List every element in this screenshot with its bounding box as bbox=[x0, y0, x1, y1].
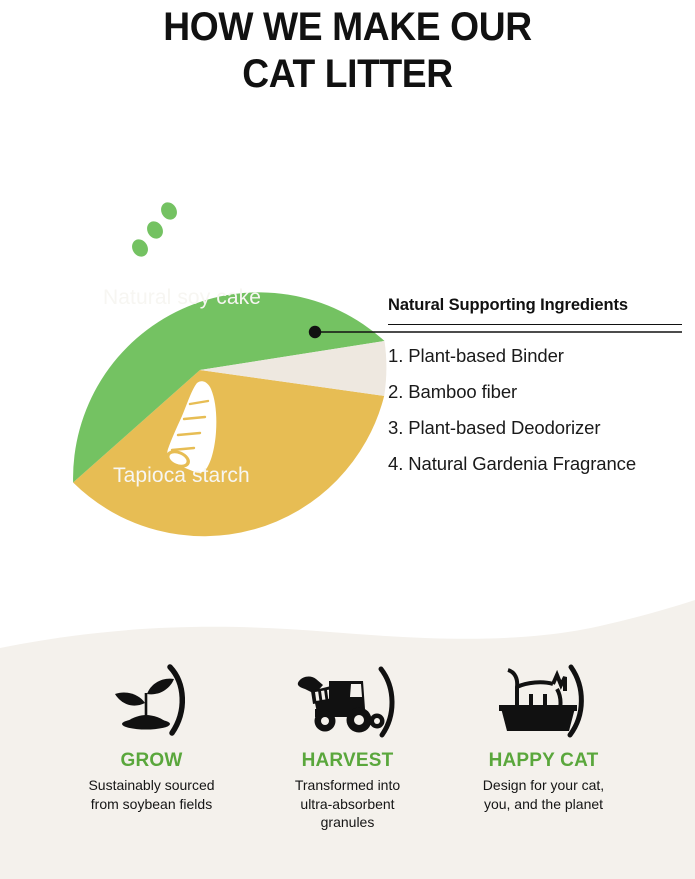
page-title-line-1: HOW WE MAKE OUR bbox=[24, 4, 670, 51]
list-item: 3. Plant-based Deodorizer bbox=[388, 410, 688, 446]
harvester-svg bbox=[293, 661, 403, 741]
feature-harvest: HARVEST Transformed into ultra-absorbent… bbox=[250, 660, 446, 832]
feature-title: HARVEST bbox=[256, 750, 440, 772]
page-title-line-2: CAT LITTER bbox=[24, 51, 670, 98]
ingredients-pie-chart: Natural soy cake Tapioca starch bbox=[8, 176, 398, 556]
feature-description: Design for your cat, you, and the planet bbox=[452, 776, 636, 813]
list-item: 1. Plant-based Binder bbox=[388, 338, 688, 374]
feature-happy-cat: HAPPY CAT Design for your cat, you, and … bbox=[446, 660, 642, 813]
pie-label-natural-soy-cake: Natural soy cake bbox=[103, 286, 261, 310]
soybean-pod-graphic bbox=[108, 185, 184, 272]
feature-description: Transformed into ultra-absorbent granule… bbox=[256, 776, 440, 832]
feature-title: HAPPY CAT bbox=[452, 750, 636, 772]
combine-harvester-icon bbox=[256, 660, 440, 742]
page-title: HOW WE MAKE OUR CAT LITTER bbox=[0, 0, 695, 98]
features-row: GROW Sustainably sourced from soybean fi… bbox=[0, 660, 695, 832]
seedling-sprout-icon bbox=[60, 660, 244, 742]
process-steps-panel: GROW Sustainably sourced from soybean fi… bbox=[0, 560, 695, 879]
callout-list: 1. Plant-based Binder 2. Bamboo fiber 3.… bbox=[388, 338, 688, 482]
list-item: 4. Natural Gardenia Fragrance bbox=[388, 446, 688, 482]
callout-heading: Natural Supporting Ingredients bbox=[388, 296, 688, 315]
leader-dot bbox=[309, 326, 321, 338]
feature-grow: GROW Sustainably sourced from soybean fi… bbox=[54, 660, 250, 813]
cat-box-svg bbox=[491, 661, 596, 741]
cat-litter-box-icon bbox=[452, 660, 636, 742]
pie-label-tapioca-starch: Tapioca starch bbox=[113, 464, 250, 488]
supporting-ingredients-callout: Natural Supporting Ingredients 1. Plant-… bbox=[388, 296, 688, 482]
pie-chart-svg bbox=[8, 176, 398, 556]
sprout-svg bbox=[106, 661, 198, 741]
callout-divider bbox=[388, 324, 682, 325]
list-item: 2. Bamboo fiber bbox=[388, 374, 688, 410]
infographic-page: HOW WE MAKE OUR CAT LITTER bbox=[0, 0, 695, 879]
feature-title: GROW bbox=[60, 750, 244, 772]
feature-description: Sustainably sourced from soybean fields bbox=[60, 776, 244, 813]
